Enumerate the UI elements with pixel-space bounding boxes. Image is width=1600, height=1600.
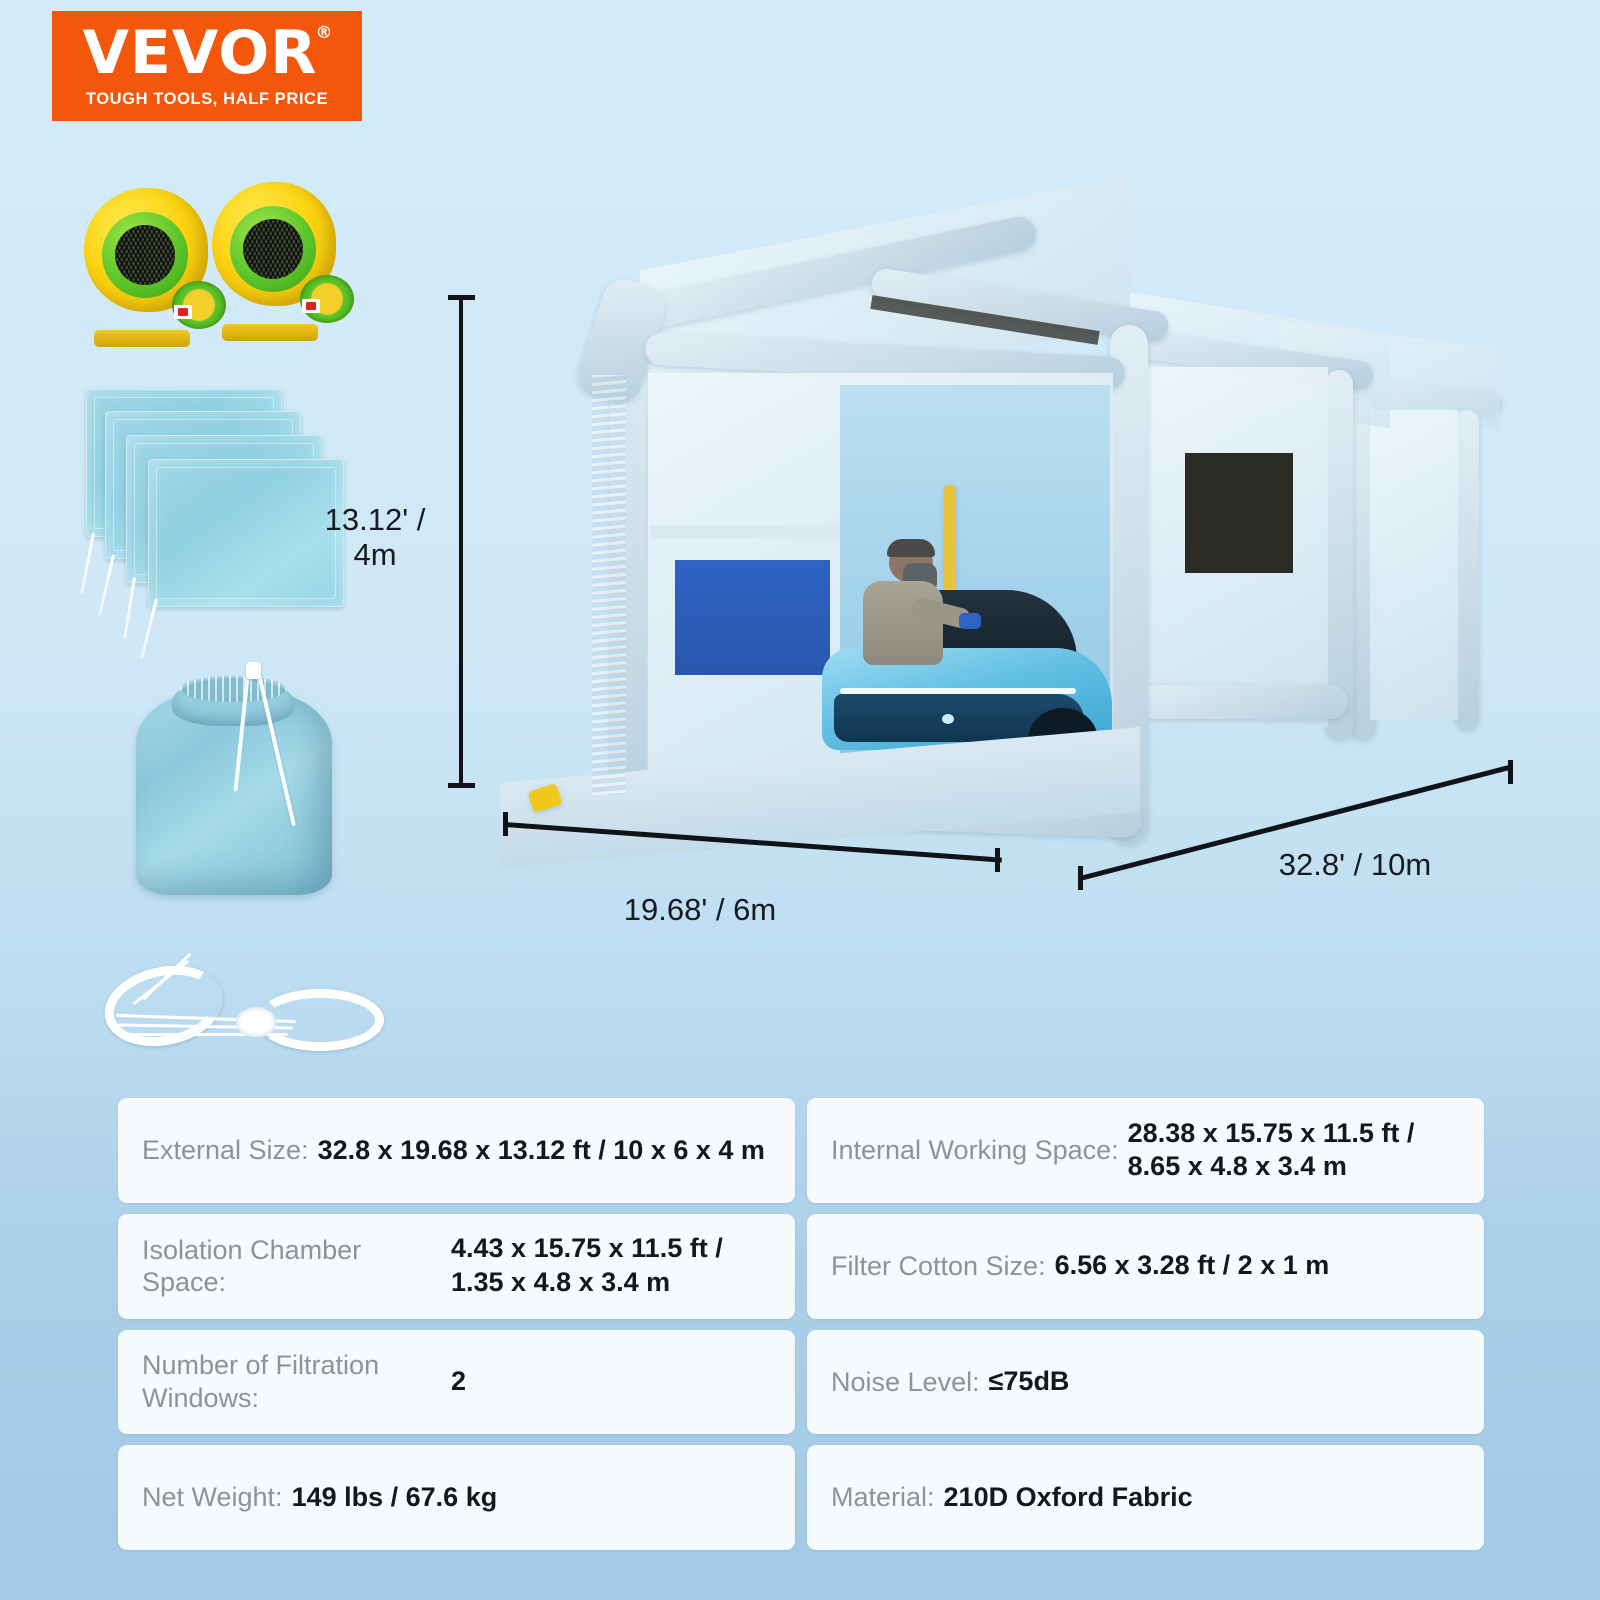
- rope-knot: [236, 1007, 276, 1037]
- spec-row-number-of-filtration-windows: Number of Filtration Windows: 2: [118, 1330, 795, 1435]
- spec-value: 6.56 x 3.28 ft / 2 x 1 m: [1055, 1249, 1330, 1283]
- air-blower-icon: [78, 182, 218, 347]
- spec-value: 28.38 x 15.75 x 11.5 ft / 8.65 x 4.8 x 3…: [1128, 1117, 1462, 1185]
- spec-label: Net Weight:: [142, 1481, 283, 1513]
- height-dimension-cap-top: [448, 295, 475, 300]
- car-emblem-icon: [942, 714, 954, 724]
- brand-name: VEVOR: [82, 18, 317, 88]
- spec-row-net-weight: Net Weight: 149 lbs / 67.6 kg: [118, 1445, 795, 1550]
- width-dimension-label: 19.68' / 6m: [560, 893, 840, 928]
- rear-chamber-column: [1455, 410, 1479, 730]
- blower-base-foot: [222, 324, 318, 341]
- rope-loop: [97, 955, 231, 1056]
- accessory-air-blower-pair: [78, 172, 358, 337]
- spec-row-internal-working-space: Internal Working Space: 28.38 x 15.75 x …: [807, 1098, 1484, 1203]
- blower-warning-label: [174, 305, 192, 319]
- worker-coverall: [863, 581, 943, 665]
- spray-gun-icon: [959, 613, 981, 629]
- accessory-storage-carry-bag: [128, 648, 353, 898]
- vevor-logo: VEVOR ® TOUGH TOOLS, HALF PRICE: [52, 11, 362, 121]
- filter-sheet-tie: [80, 533, 95, 594]
- worker-spray-painting: [855, 543, 963, 693]
- blower-grill-icon: [115, 225, 175, 285]
- spec-label: Internal Working Space:: [831, 1134, 1119, 1166]
- air-blower-icon: [206, 176, 346, 341]
- bag-cord-toggle: [246, 662, 261, 679]
- spec-row-material: Material: 210D Oxford Fabric: [807, 1445, 1484, 1550]
- spec-value: 149 lbs / 67.6 kg: [292, 1481, 498, 1515]
- depth-dimension-label: 32.8' / 10m: [1200, 848, 1510, 883]
- spec-row-filter-cotton-size: Filter Cotton Size: 6.56 x 3.28 ft / 2 x…: [807, 1214, 1484, 1319]
- height-dimension-label: 13.12' / 4m: [300, 503, 450, 572]
- plastic-curtain: [592, 375, 626, 795]
- spec-value: 2: [451, 1365, 466, 1399]
- width-dimension-cap-left: [503, 812, 508, 836]
- blower-base-foot: [94, 330, 190, 347]
- depth-dimension-cap-right: [1508, 760, 1513, 784]
- height-dimension-line: [459, 297, 463, 787]
- registered-trademark-icon: ®: [316, 25, 334, 42]
- filter-sheet-tie: [123, 577, 136, 639]
- brand-tagline: TOUGH TOOLS, HALF PRICE: [86, 90, 328, 109]
- spec-row-isolation-chamber-space: Isolation Chamber Space: 4.43 x 15.75 x …: [118, 1214, 795, 1319]
- mid-chamber-base-tube: [1138, 685, 1348, 719]
- rear-chamber-wall: [1370, 410, 1458, 720]
- filtration-window: [1185, 453, 1293, 573]
- spec-value: 210D Oxford Fabric: [944, 1481, 1193, 1515]
- worker-goggles-icon: [887, 539, 935, 557]
- spec-row-noise-level: Noise Level: ≤75dB: [807, 1330, 1484, 1435]
- blower-grill-icon: [243, 219, 303, 279]
- spec-label: Isolation Chamber Space:: [142, 1234, 442, 1299]
- product-image-inflatable-paint-booth: [470, 195, 1530, 845]
- accessory-filter-cotton-sheets: [86, 385, 351, 615]
- spec-value: 4.43 x 15.75 x 11.5 ft / 1.35 x 4.8 x 3.…: [451, 1232, 773, 1300]
- height-dimension-cap-bottom: [448, 783, 475, 788]
- brand-wordmark: VEVOR ®: [82, 23, 331, 83]
- spec-label: Filter Cotton Size:: [831, 1250, 1046, 1282]
- blower-warning-label: [302, 299, 320, 313]
- spec-row-external-size: External Size: 32.8 x 19.68 x 13.12 ft /…: [118, 1098, 795, 1203]
- accessory-tie-down-rope: [96, 955, 386, 1075]
- width-dimension-cap-right: [995, 848, 1000, 872]
- bag-gathered-top: [180, 676, 286, 702]
- depth-dimension-cap-left: [1078, 866, 1083, 890]
- blue-filter-window: [675, 560, 830, 675]
- spec-value: 32.8 x 19.68 x 13.12 ft / 10 x 6 x 4 m: [318, 1134, 765, 1168]
- spec-value: ≤75dB: [989, 1365, 1070, 1399]
- spec-label: Noise Level:: [831, 1366, 980, 1398]
- filter-sheet-tie: [98, 555, 115, 616]
- spec-label: Material:: [831, 1481, 935, 1513]
- specifications-table: External Size: 32.8 x 19.68 x 13.12 ft /…: [118, 1098, 1484, 1550]
- spec-label: Number of Filtration Windows:: [142, 1349, 442, 1414]
- spec-label: External Size:: [142, 1134, 309, 1166]
